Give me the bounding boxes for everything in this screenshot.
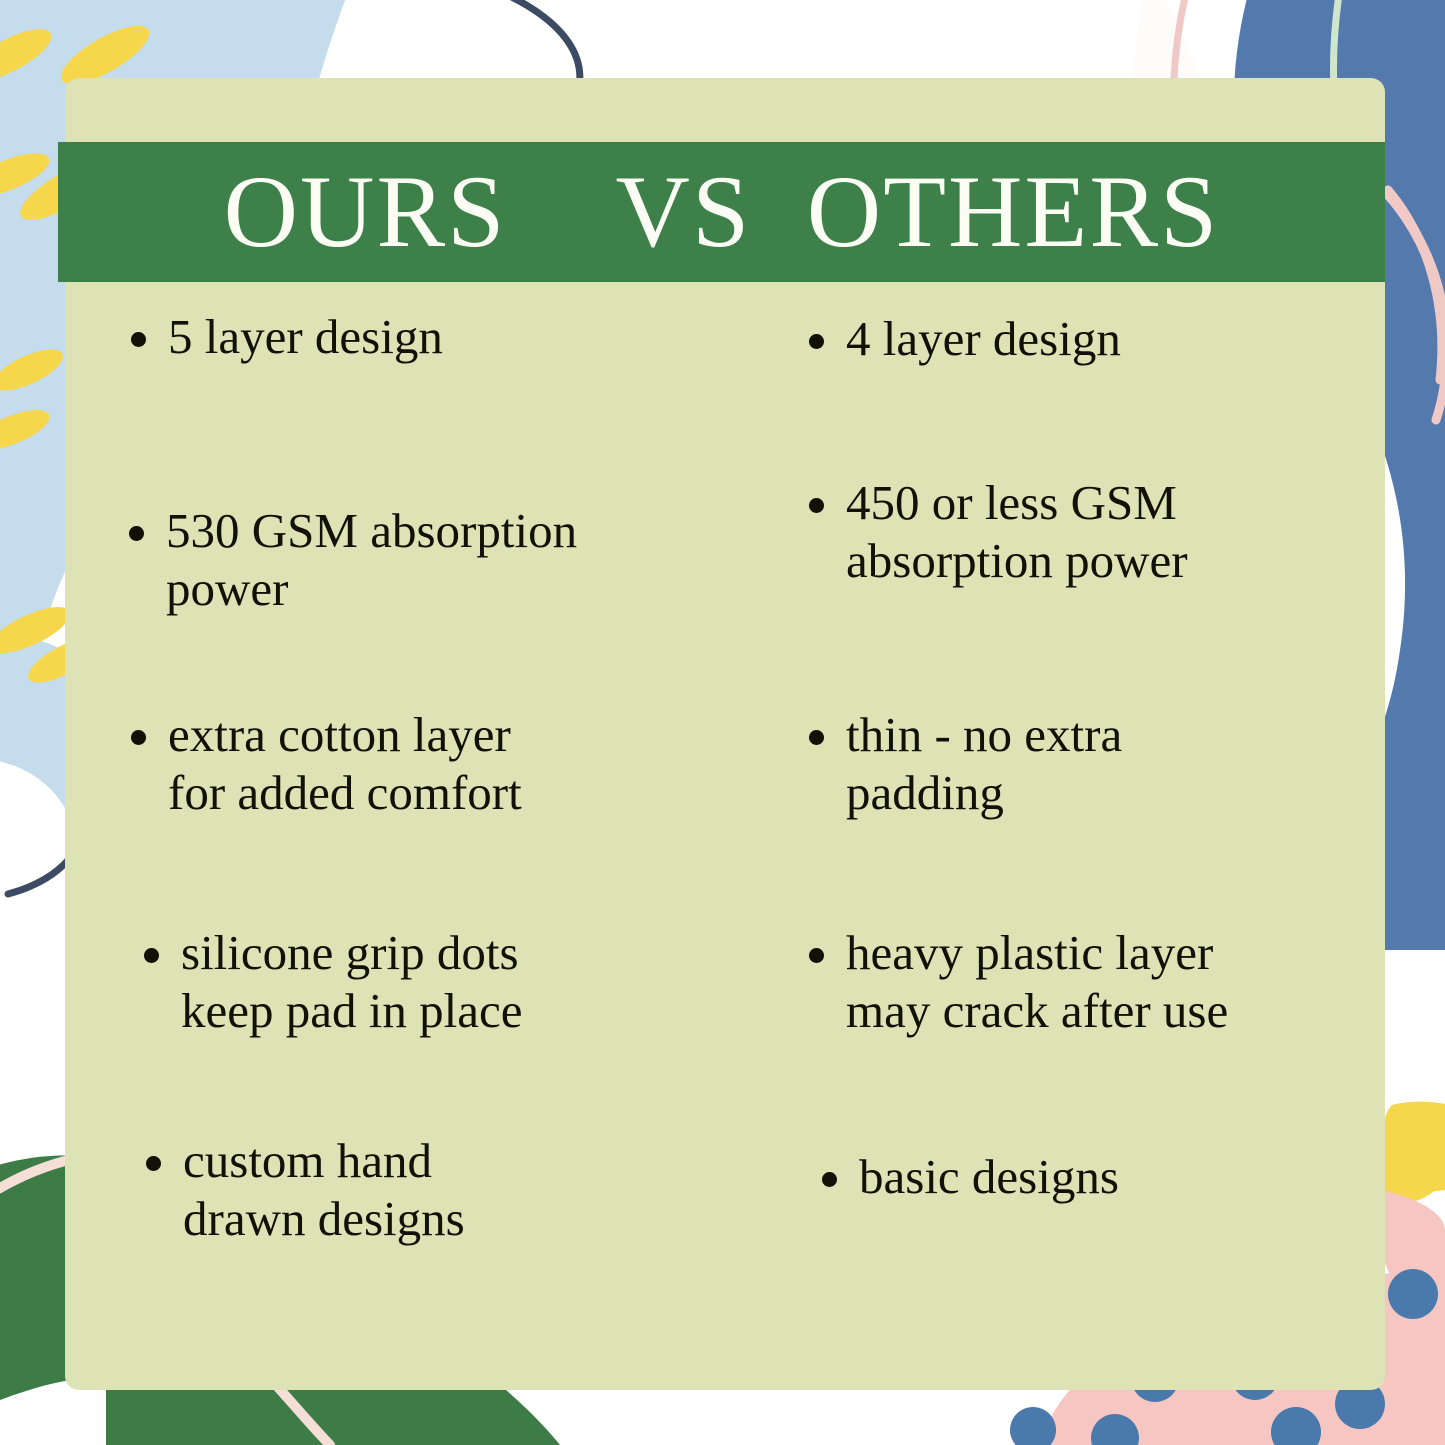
- list-item: basic designs: [822, 1148, 1119, 1206]
- page-title: OURS VS OTHERS: [224, 161, 1220, 264]
- list-item: 530 GSM absorption power: [129, 502, 577, 618]
- bullet-dot-icon: [822, 1172, 837, 1187]
- bullet-dot-icon: [131, 332, 146, 347]
- list-item: 450 or less GSM absorption power: [809, 474, 1188, 590]
- list-item: 5 layer design: [131, 308, 443, 366]
- header-band: OURS VS OTHERS: [58, 142, 1385, 282]
- list-item-label: thin - no extra padding: [846, 706, 1122, 822]
- column-others: 4 layer design 450 or less GSM absorptio…: [795, 308, 1385, 1390]
- list-item-label: 530 GSM absorption power: [166, 502, 577, 618]
- bullet-dot-icon: [144, 948, 159, 963]
- list-item: heavy plastic layer may crack after use: [809, 924, 1228, 1040]
- comparison-card: OURS VS OTHERS 5 layer design 530 GSM ab…: [65, 78, 1385, 1390]
- list-item: 4 layer design: [809, 310, 1121, 368]
- bullet-dot-icon: [809, 498, 824, 513]
- bullet-dot-icon: [809, 730, 824, 745]
- list-item-label: extra cotton layer for added comfort: [168, 706, 522, 822]
- list-item: thin - no extra padding: [809, 706, 1122, 822]
- list-item-label: 5 layer design: [168, 308, 443, 366]
- comparison-columns: 5 layer design 530 GSM absorption power …: [65, 308, 1385, 1390]
- bullet-dot-icon: [809, 948, 824, 963]
- list-item: silicone grip dots keep pad in place: [144, 924, 522, 1040]
- list-item-label: heavy plastic layer may crack after use: [846, 924, 1228, 1040]
- bullet-dot-icon: [129, 526, 144, 541]
- comparison-graphic: OURS VS OTHERS 5 layer design 530 GSM ab…: [0, 0, 1445, 1445]
- list-item: custom hand drawn designs: [146, 1132, 465, 1248]
- bullet-dot-icon: [809, 334, 824, 349]
- list-item-label: silicone grip dots keep pad in place: [181, 924, 522, 1040]
- list-item-label: basic designs: [859, 1148, 1119, 1206]
- bullet-dot-icon: [131, 730, 146, 745]
- bullet-dot-icon: [146, 1156, 161, 1171]
- list-item-label: 450 or less GSM absorption power: [846, 474, 1188, 590]
- list-item-label: 4 layer design: [846, 310, 1121, 368]
- list-item-label: custom hand drawn designs: [183, 1132, 465, 1248]
- list-item: extra cotton layer for added comfort: [131, 706, 522, 822]
- column-ours: 5 layer design 530 GSM absorption power …: [65, 308, 795, 1390]
